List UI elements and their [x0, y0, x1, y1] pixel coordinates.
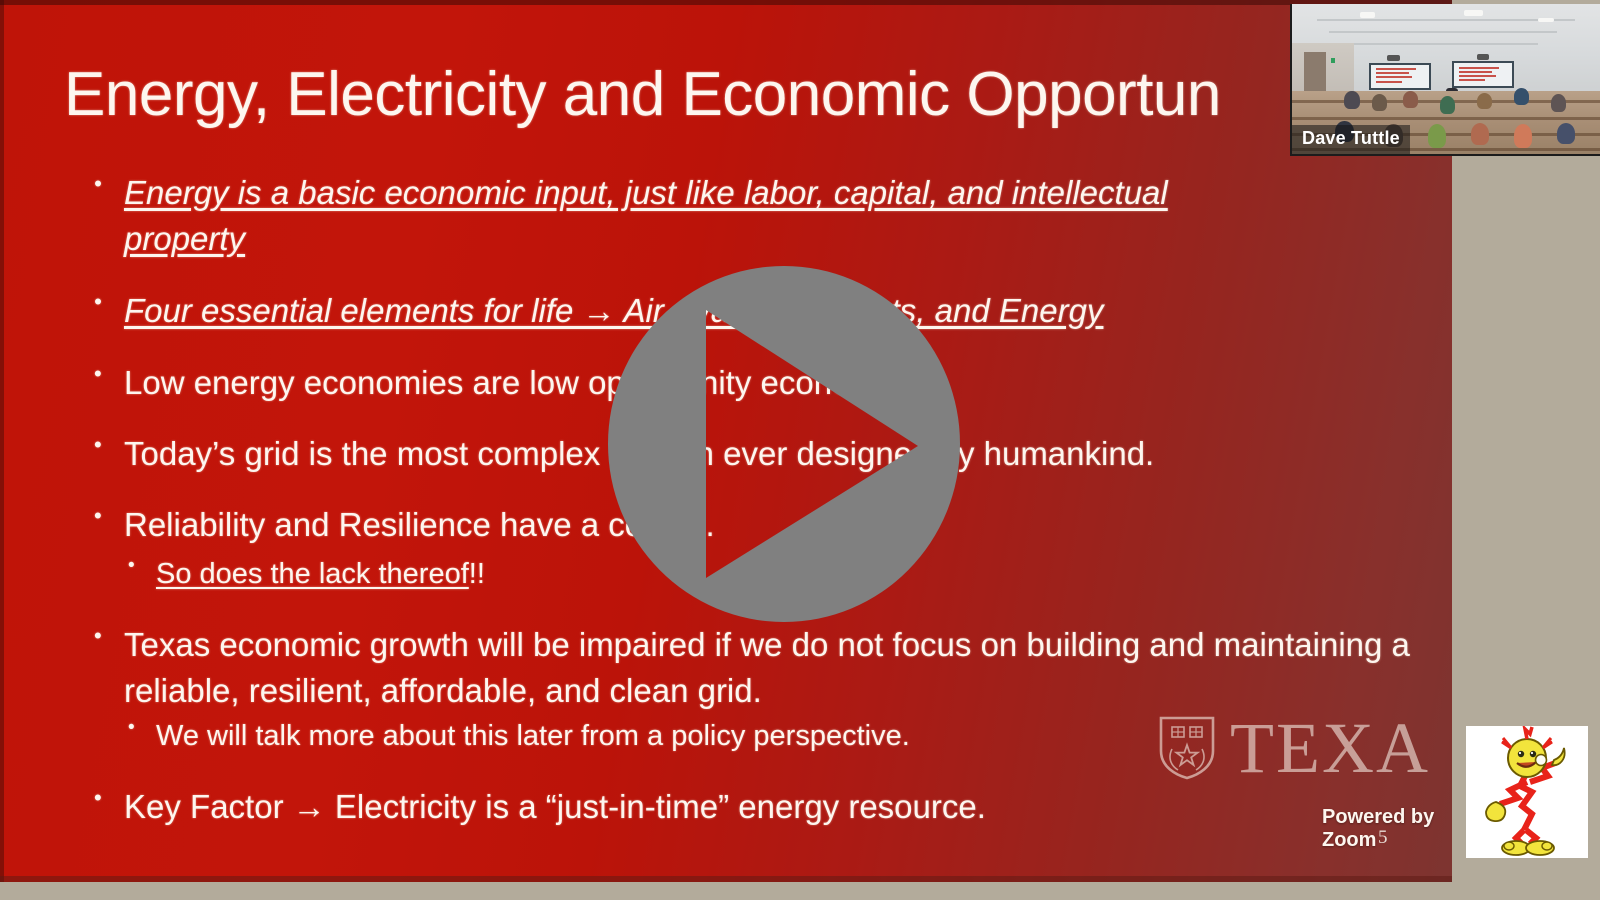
bullet-text: Key Factor → Electricity is a “just-in-t…: [124, 788, 986, 825]
thumb-audience-member: [1471, 123, 1489, 146]
slide-left-edge: [0, 0, 4, 882]
bullet-item: Key Factor → Electricity is a “just-in-t…: [90, 784, 1430, 830]
thumb-audience-member: [1557, 123, 1575, 144]
thumb-ceiling-line: [1347, 43, 1538, 45]
thumb-projector: [1477, 54, 1489, 60]
thumb-audience-member: [1403, 91, 1418, 108]
thumb-projector: [1387, 55, 1399, 61]
reddy-kilowatt-mascot: [1466, 726, 1588, 858]
thumb-seat-row: [1292, 117, 1600, 120]
bullet-text-continuation: property: [90, 216, 245, 262]
slide-bottom-edge: [0, 876, 1452, 882]
bullet-text: Texas economic growth will be impaired i…: [124, 626, 1410, 709]
thumb-audience-member: [1440, 96, 1455, 114]
thumb-audience-member: [1344, 91, 1359, 109]
reddy-kilowatt-icon: [1466, 726, 1588, 858]
slide-top-edge: [0, 0, 1452, 5]
slide-page-number: 5: [1378, 827, 1388, 849]
thumb-audience-member: [1372, 94, 1387, 111]
thumb-ceiling-light: [1538, 18, 1553, 23]
thumb-audience-member: [1514, 124, 1532, 148]
thumb-exit-sign: [1331, 58, 1336, 63]
slide-title: Energy, Electricity and Economic Opportu…: [64, 62, 1452, 127]
participant-name-label: Dave Tuttle: [1292, 125, 1410, 154]
ut-shield-icon: [1158, 715, 1216, 781]
bullet-item: Energy is a basic economic input, just l…: [90, 170, 1410, 216]
thumb-ceiling-light: [1360, 12, 1375, 18]
bullet-item: Texas economic growth will be impaired i…: [90, 622, 1430, 713]
video-player-stage: Energy, Electricity and Economic Opportu…: [0, 0, 1600, 900]
thumb-projection-screen: [1369, 63, 1431, 90]
ut-wordmark: TEXA: [1230, 712, 1430, 784]
thumb-audience-member: [1477, 93, 1492, 110]
thumb-audience-member: [1428, 124, 1446, 148]
play-button-icon[interactable]: [606, 264, 962, 624]
thumb-projection-screen: [1452, 61, 1514, 88]
thumb-audience-member: [1551, 94, 1566, 112]
bullet-text: We will talk more about this later from …: [156, 720, 910, 752]
thumb-ceiling-line: [1317, 19, 1576, 21]
participant-video-thumbnail[interactable]: Dave Tuttle: [1290, 4, 1600, 156]
thumb-audience-member: [1514, 88, 1529, 105]
thumb-ceiling-light: [1464, 10, 1482, 16]
bullet-text: Energy is a basic economic input, just l…: [124, 174, 1168, 211]
bullet-text-underlined: So does the lack thereof: [156, 558, 469, 590]
ut-texas-logo: TEXA: [1158, 712, 1430, 784]
thumb-ceiling-line: [1329, 31, 1557, 33]
bullet-text-suffix: !!: [469, 558, 485, 590]
